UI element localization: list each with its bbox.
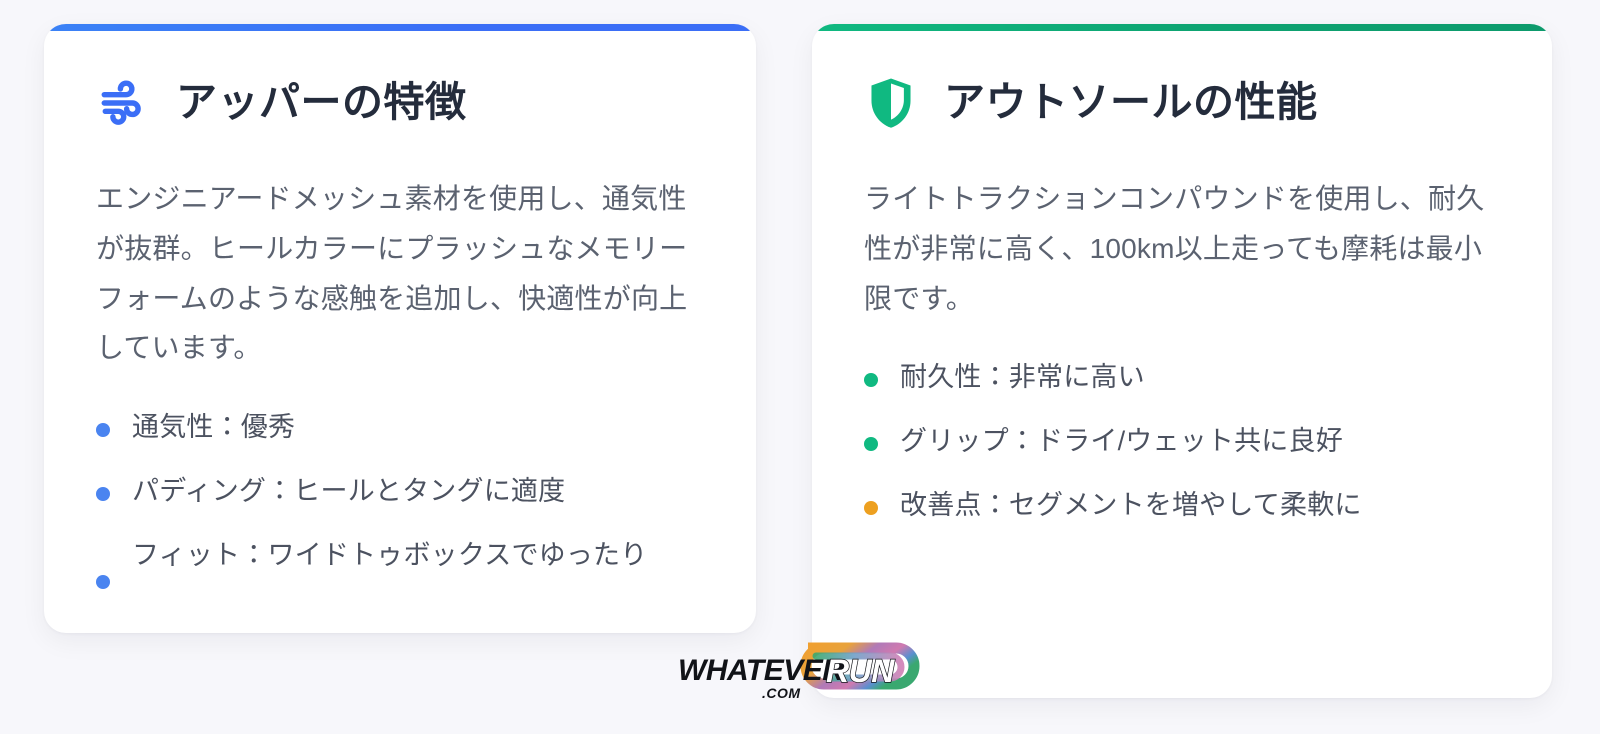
card-title-upper: アッパーの特徴 — [176, 79, 467, 126]
wind-icon — [96, 76, 150, 130]
list-item: パディング：ヒールとタングに適度 — [96, 471, 704, 513]
cards-container: アッパーの特徴 エンジニアードメッシュ素材を使用し、通気性が抜群。ヒールカラーに… — [0, 0, 1600, 734]
bullet-label: 改善点：セグメントを増やして柔軟に — [900, 485, 1500, 527]
list-item: フィット：ワイドトゥボックスでゆったり — [96, 535, 704, 589]
card-upper-features: アッパーの特徴 エンジニアードメッシュ素材を使用し、通気性が抜群。ヒールカラーに… — [44, 24, 756, 633]
bullet-dot-icon — [96, 423, 110, 437]
bullet-list-outsole: 耐久性：非常に高い グリップ：ドライ/ウェット共に良好 改善点：セグメントを増や… — [864, 357, 1500, 527]
bullet-label: フィット：ワイドトゥボックスでゆったり — [132, 535, 704, 577]
bullet-label: 耐久性：非常に高い — [900, 357, 1500, 399]
card-description-upper: エンジニアードメッシュ素材を使用し、通気性が抜群。ヒールカラーにプラッシュなメモ… — [96, 174, 704, 373]
list-item: グリップ：ドライ/ウェット共に良好 — [864, 421, 1500, 463]
bullet-label: パディング：ヒールとタングに適度 — [132, 471, 704, 513]
list-item: 耐久性：非常に高い — [864, 357, 1500, 399]
bullet-dot-icon — [96, 487, 110, 501]
shield-icon — [864, 76, 918, 130]
bullet-dot-icon — [96, 575, 110, 589]
list-item: 改善点：セグメントを増やして柔軟に — [864, 485, 1500, 527]
bullet-dot-icon — [864, 437, 878, 451]
card-header-upper: アッパーの特徴 — [96, 76, 704, 130]
bullet-label: グリップ：ドライ/ウェット共に良好 — [900, 421, 1500, 463]
bullet-dot-icon — [864, 373, 878, 387]
list-item: 通気性：優秀 — [96, 407, 704, 449]
card-description-outsole: ライトトラクションコンパウンドを使用し、耐久性が非常に高く、100km以上走って… — [864, 174, 1500, 323]
bullet-list-upper: 通気性：優秀 パディング：ヒールとタングに適度 フィット：ワイドトゥボックスでゆ… — [96, 407, 704, 589]
bullet-label: 通気性：優秀 — [132, 407, 704, 449]
card-header-outsole: アウトソールの性能 — [864, 76, 1500, 130]
card-title-outsole: アウトソールの性能 — [944, 79, 1318, 126]
bullet-dot-icon — [864, 501, 878, 515]
card-outsole-performance: アウトソールの性能 ライトトラクションコンパウンドを使用し、耐久性が非常に高く、… — [812, 24, 1552, 698]
